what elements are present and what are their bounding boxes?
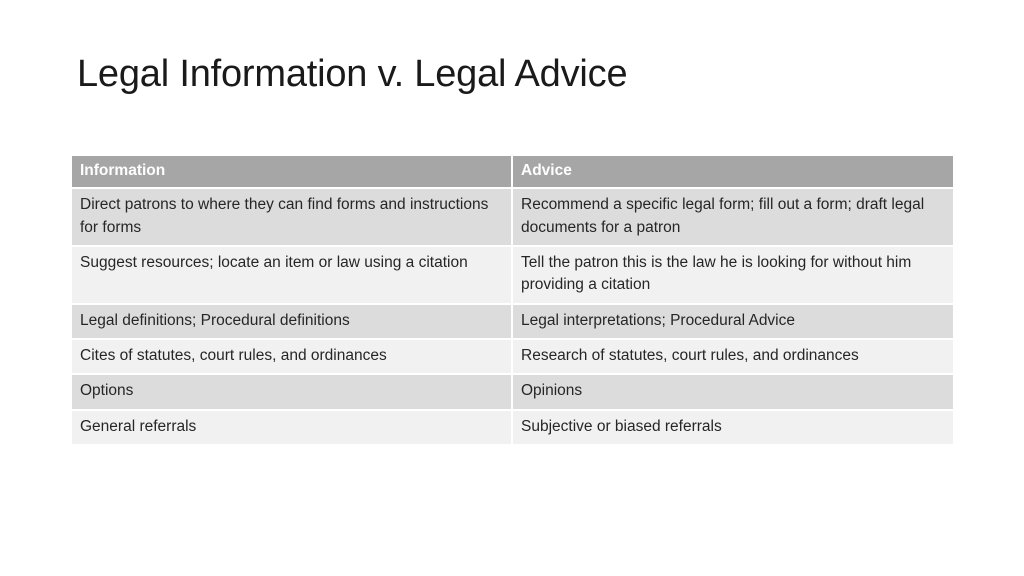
table-row: Options Opinions (72, 375, 953, 410)
cell-advice: Legal interpretations; Procedural Advice (513, 305, 953, 340)
cell-information: Options (72, 375, 513, 410)
cell-information: Legal definitions; Procedural definition… (72, 305, 513, 340)
slide-canvas: Legal Information v. Legal Advice Inform… (0, 0, 1024, 576)
table-body: Direct patrons to where they can find fo… (72, 189, 953, 444)
table-row: General referrals Subjective or biased r… (72, 411, 953, 444)
table-header-row: Information Advice (72, 156, 953, 189)
cell-advice: Tell the patron this is the law he is lo… (513, 247, 953, 305)
cell-information: Suggest resources; locate an item or law… (72, 247, 513, 305)
table-row: Cites of statutes, court rules, and ordi… (72, 340, 953, 375)
cell-advice: Recommend a specific legal form; fill ou… (513, 189, 953, 247)
cell-information: Cites of statutes, court rules, and ordi… (72, 340, 513, 375)
column-header-information: Information (72, 156, 513, 189)
table-header: Information Advice (72, 156, 953, 189)
table-row: Suggest resources; locate an item or law… (72, 247, 953, 305)
cell-advice: Research of statutes, court rules, and o… (513, 340, 953, 375)
table-row: Direct patrons to where they can find fo… (72, 189, 953, 247)
column-header-advice: Advice (513, 156, 953, 189)
table-row: Legal definitions; Procedural definition… (72, 305, 953, 340)
legal-information-advice-table: Information Advice Direct patrons to whe… (72, 156, 953, 444)
cell-advice: Opinions (513, 375, 953, 410)
cell-information: General referrals (72, 411, 513, 444)
cell-advice: Subjective or biased referrals (513, 411, 953, 444)
page-title: Legal Information v. Legal Advice (77, 52, 957, 97)
cell-information: Direct patrons to where they can find fo… (72, 189, 513, 247)
